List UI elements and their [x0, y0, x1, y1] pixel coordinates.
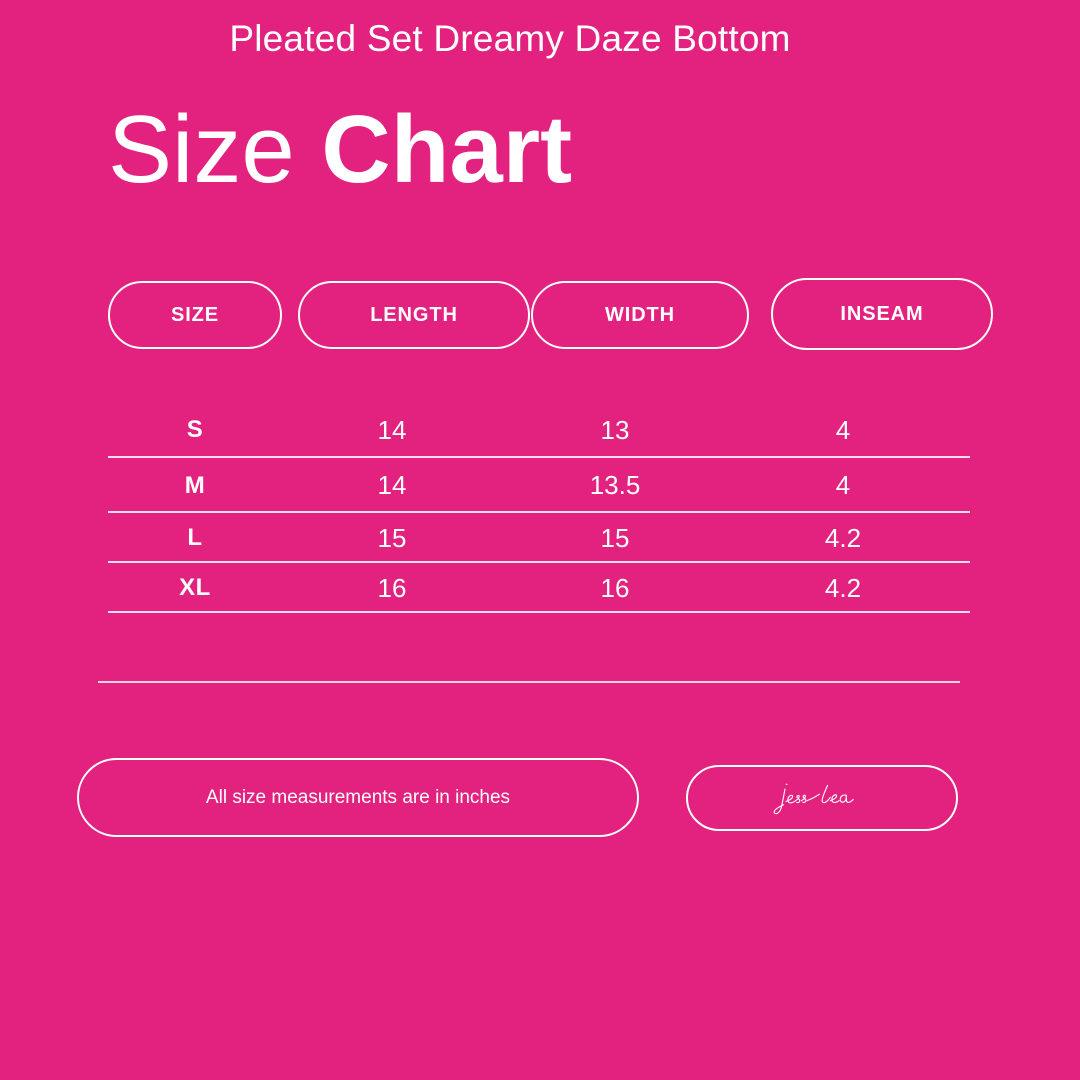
table-row: S 14 13 4	[108, 402, 970, 458]
product-title: Pleated Set Dreamy Daze Bottom	[0, 18, 1080, 60]
cell-inseam: 4.2	[728, 573, 958, 604]
table-row: M 14 13.5 4	[108, 458, 970, 513]
cell-length: 14	[282, 415, 502, 446]
table-row: XL 16 16 4.2	[108, 563, 970, 613]
cell-size: XL	[108, 574, 282, 602]
table-row-empty	[108, 613, 970, 683]
cell-width: 13	[502, 415, 728, 446]
column-header-size: SIZE	[108, 281, 282, 349]
cell-inseam: 4.2	[728, 523, 958, 554]
column-header-inseam: INSEAM	[771, 278, 993, 350]
column-header-width: WIDTH	[531, 281, 749, 349]
cell-width: 13.5	[502, 470, 728, 501]
brand-signature-icon	[763, 776, 881, 820]
page-title-light: Size	[108, 96, 295, 203]
cell-size: M	[108, 472, 282, 500]
table-header-row: SIZE LENGTH WIDTH INSEAM	[0, 278, 1080, 360]
cell-length: 14	[282, 470, 502, 501]
cell-length: 16	[282, 573, 502, 604]
cell-size: S	[108, 416, 282, 444]
size-chart-page: { "page": { "background_color": "#e3217f…	[0, 0, 1080, 1080]
table-row: L 15 15 4.2	[108, 513, 970, 563]
table-bottom-divider	[98, 681, 960, 683]
size-table: S 14 13 4 M 14 13.5 4 L 15 15 4.2 XL 16 …	[108, 402, 970, 683]
cell-inseam: 4	[728, 415, 958, 446]
column-header-length: LENGTH	[298, 281, 530, 349]
cell-width: 16	[502, 573, 728, 604]
measurement-note: All size measurements are in inches	[77, 758, 639, 837]
cell-length: 15	[282, 523, 502, 554]
cell-inseam: 4	[728, 470, 958, 501]
brand-logo-pill: jess lea	[686, 765, 958, 831]
page-title-bold: Chart	[321, 96, 572, 203]
page-title: Size Chart	[108, 102, 572, 198]
cell-width: 15	[502, 523, 728, 554]
cell-size: L	[108, 524, 282, 552]
